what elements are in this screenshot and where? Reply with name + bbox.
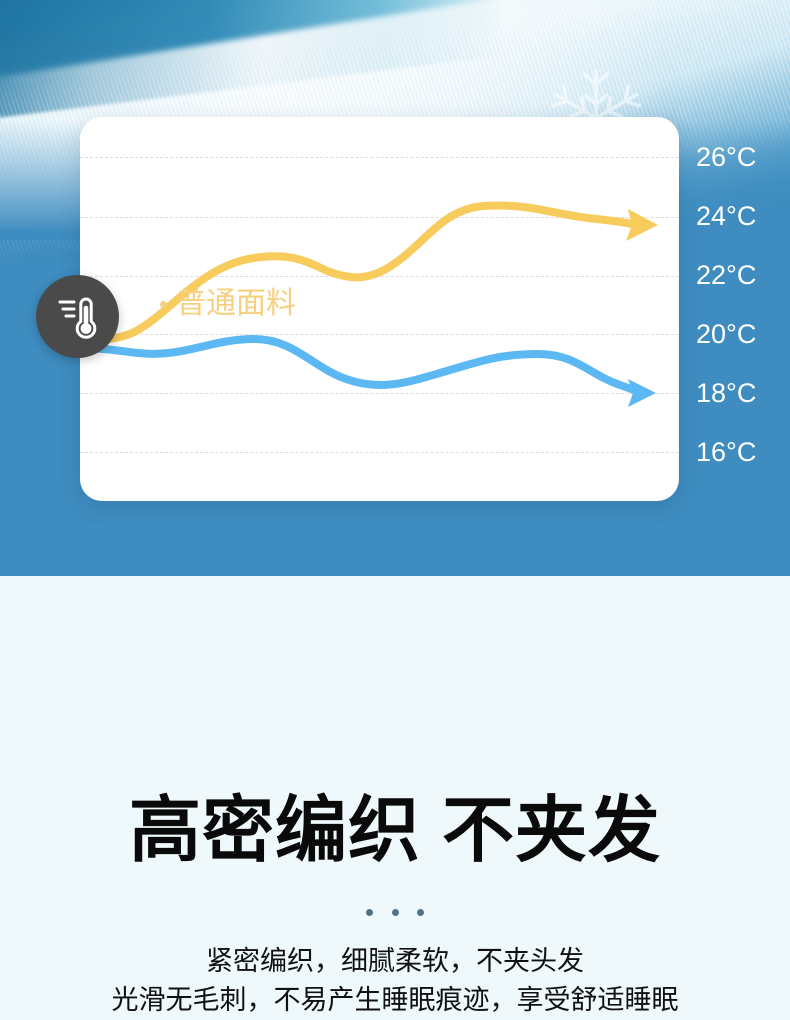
thermometer-badge xyxy=(36,275,119,358)
bottom-section: 高密编织 不夹发 紧密编织，细腻柔软，不夹头发 光滑无毛刺，不易产生睡眠痕迹，享… xyxy=(0,576,790,1000)
temp-tick-22: 22°C xyxy=(696,262,782,289)
temp-tick-16: 16°C xyxy=(696,439,782,466)
legend-normal-fabric: 普通面料 xyxy=(160,289,296,319)
separator-dots xyxy=(0,903,790,921)
hero-section: 普通面料 我们的冰藤面料 26°C 24°C 22°C 20°C 18°C 16… xyxy=(0,0,790,576)
subtitle-line-2: 光滑无毛刺，不易产生睡眠痕迹，享受舒适睡眠 xyxy=(0,981,790,1020)
legend-dot-normal-fabric xyxy=(160,301,167,308)
separator-dot xyxy=(366,909,373,916)
temp-tick-20: 20°C xyxy=(696,321,782,348)
temp-tick-26: 26°C xyxy=(696,144,782,171)
series-line-normal-fabric xyxy=(80,205,636,340)
temperature-chart-card: 普通面料 我们的冰藤面料 xyxy=(80,117,679,501)
legend-label-normal-fabric: 普通面料 xyxy=(176,289,296,319)
temp-tick-24: 24°C xyxy=(696,203,782,230)
separator-dot xyxy=(417,909,424,916)
subtitle-block: 紧密编织，细腻柔软，不夹头发 光滑无毛刺，不易产生睡眠痕迹，享受舒适睡眠 xyxy=(0,942,790,1020)
temperature-axis: 26°C 24°C 22°C 20°C 18°C 16°C xyxy=(696,0,790,576)
separator-dot xyxy=(392,909,399,916)
page-headline: 高密编织 不夹发 xyxy=(0,795,790,867)
thermometer-icon xyxy=(54,292,102,342)
temp-tick-18: 18°C xyxy=(696,380,782,407)
series-line-ice-fabric xyxy=(80,339,640,393)
subtitle-line-1: 紧密编织，细腻柔软，不夹头发 xyxy=(0,942,790,981)
